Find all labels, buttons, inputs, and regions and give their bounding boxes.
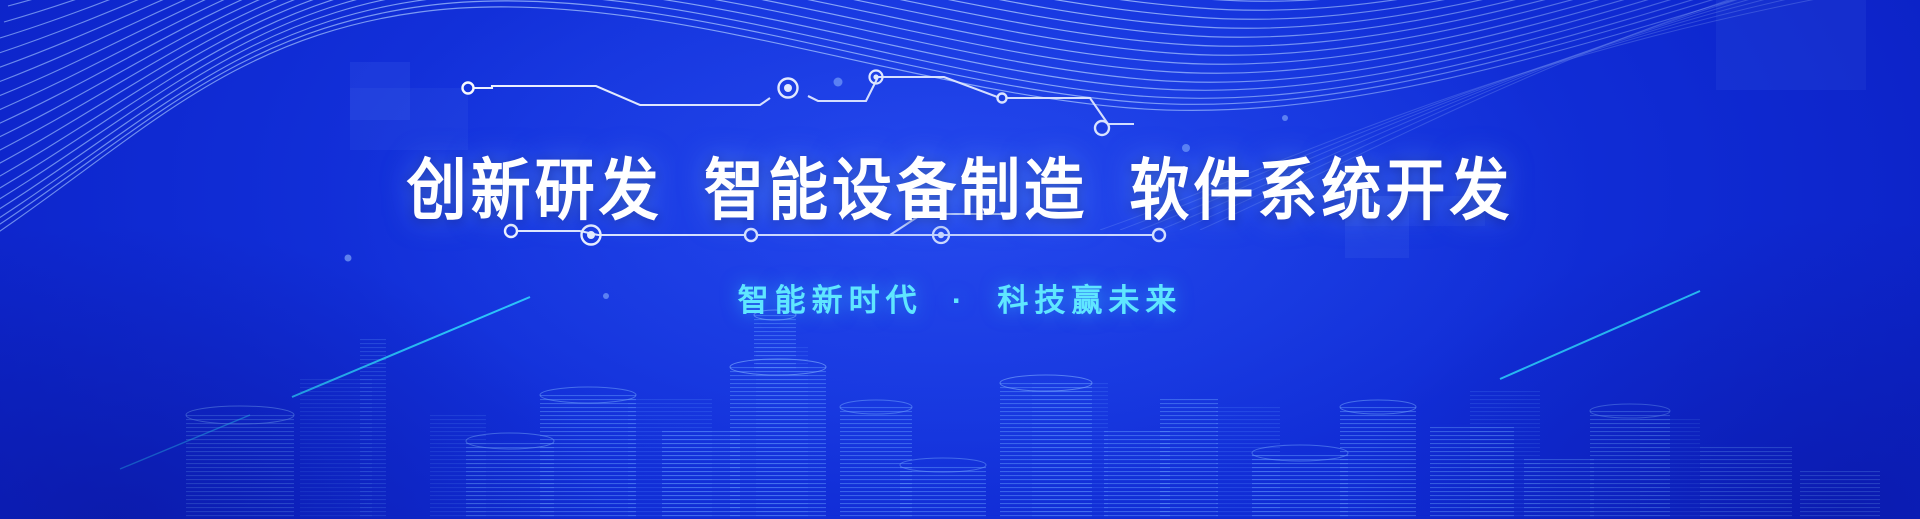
tech-hero-banner: 创新研发 智能设备制造 软件系统开发 智能新时代 · 科技赢未来 <box>0 0 1920 519</box>
banner-subtitle: 智能新时代 · 科技赢未来 <box>738 275 1183 320</box>
banner-title: 创新研发 智能设备制造 软件系统开发 <box>407 136 1514 233</box>
banner-content: 创新研发 智能设备制造 软件系统开发 智能新时代 · 科技赢未来 <box>0 0 1920 519</box>
